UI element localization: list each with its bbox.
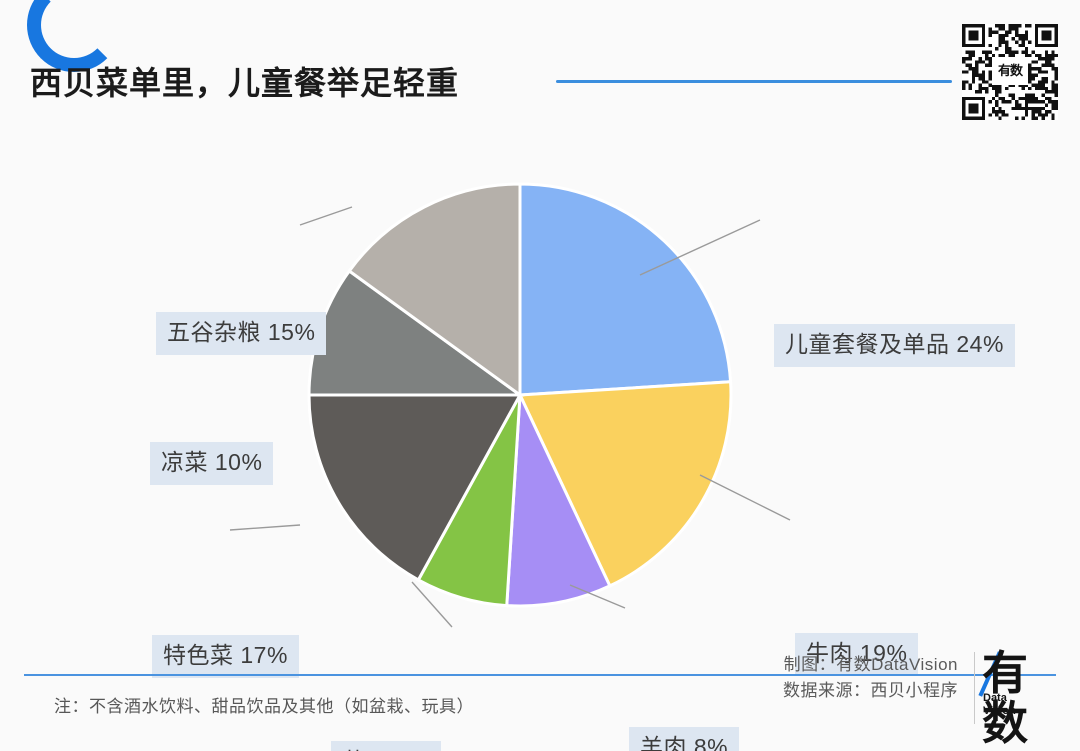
credit-author: 制图：有数DataVision [783, 652, 958, 678]
pie-label-wugu-zaliang: 五谷杂粮 15% [156, 312, 326, 355]
brand-en-line1: Data [983, 692, 1016, 705]
credits-block: 制图：有数DataVision 数据来源：西贝小程序 [783, 652, 958, 705]
pie-label-liangcai: 凉菜 10% [150, 442, 273, 485]
pie-leader-line [700, 475, 790, 520]
pie-label-yangrou: 羊肉 8% [629, 727, 739, 751]
qr-center-logo: 有数 [992, 57, 1028, 85]
pie-chart: 五谷杂粮 15% 凉菜 10% 特色菜 17% 莜面 7% 羊肉 8% 牛肉 1… [0, 130, 1080, 640]
footer-note: 注：不含酒水饮料、甜品饮品及其他（如盆栽、玩具） [54, 692, 474, 717]
qr-code[interactable]: 有数 [962, 24, 1058, 120]
pie-leader-line [300, 207, 352, 225]
pie-label-tesecai: 特色菜 17% [152, 635, 299, 678]
pie-chart-svg [0, 130, 1080, 640]
title-divider [556, 80, 952, 83]
pie-slice-group [309, 184, 731, 606]
credit-source: 数据来源：西贝小程序 [783, 678, 958, 704]
credits-divider [974, 652, 975, 724]
brand-en-line2: Vision [983, 705, 1016, 718]
infographic-page: 西贝菜单里，儿童餐举足轻重 有数 五谷杂粮 15% 凉菜 10% 特色菜 17%… [0, 0, 1080, 751]
pie-leader-line [230, 525, 300, 530]
page-title: 西贝菜单里，儿童餐举足轻重 [30, 58, 459, 104]
pie-label-ertong-taocan: 儿童套餐及单品 24% [774, 324, 1015, 367]
brand-logo: 有数 Data Vision [982, 648, 1066, 728]
pie-label-youmian: 莜面 7% [331, 741, 441, 751]
brand-name-en: Data Vision [983, 692, 1016, 717]
pie-slice[interactable] [520, 184, 731, 395]
